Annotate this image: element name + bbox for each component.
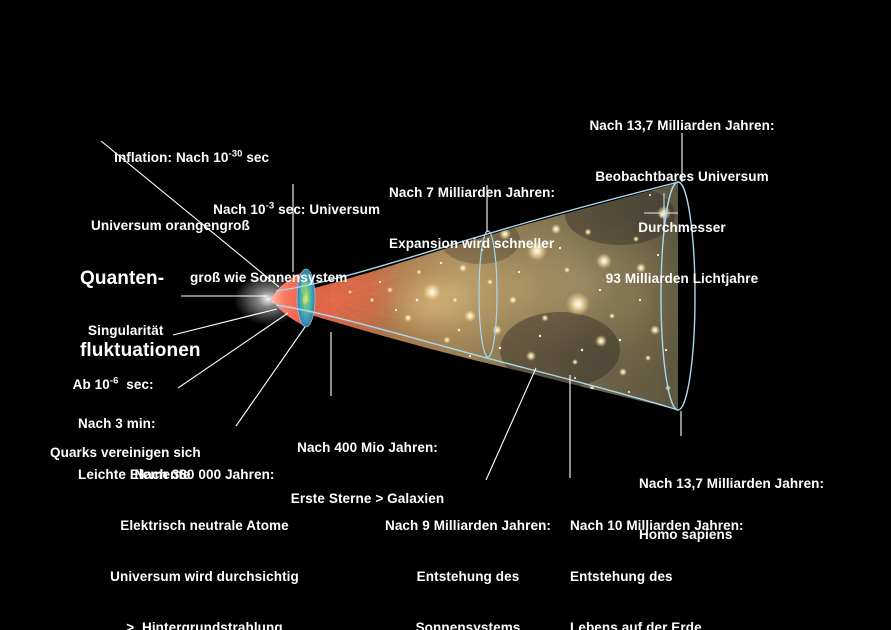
label-homo-sapiens-line2: Homo sapiens <box>639 526 824 543</box>
label-observable-line2: Beobachtbares Universum <box>563 168 801 185</box>
label-solar-system-line2: Entstehung des <box>375 568 561 585</box>
label-observable-line4: 93 Milliarden Lichtjahre <box>563 270 801 287</box>
label-observable-line1: Nach 13,7 Milliarden Jahren: <box>563 117 801 134</box>
label-homo-sapiens-line1: Nach 13,7 Milliarden Jahren: <box>639 475 824 492</box>
label-expansion7-line1: Nach 7 Milliarden Jahren: <box>389 184 555 201</box>
label-solar-system-line1: Nach 9 Milliarden Jahren: <box>375 517 561 534</box>
label-recombination-line4: > Hintergrundstrahlung <box>82 619 327 630</box>
label-observable-line3: Durchmesser <box>563 219 801 236</box>
label-light-elements-line1: Nach 3 min: <box>78 415 191 432</box>
leader-solar-system <box>486 368 536 480</box>
label-homo-sapiens: Nach 13,7 Milliarden Jahren: Homo sapien… <box>639 441 824 577</box>
label-milli-sec: Nach 10-3 sec: Universum groß wie Sonnen… <box>190 150 380 320</box>
label-life-on-earth-line3: Lebens auf der Erde <box>570 619 744 630</box>
label-milli-sec-line2: groß wie Sonnensystem <box>190 269 380 286</box>
label-expansion7-line2: Expansion wird schneller <box>389 235 555 252</box>
label-expansion7: Nach 7 Milliarden Jahren: Expansion wird… <box>389 150 555 286</box>
label-recombination-line3: Universum wird durchsichtig <box>82 568 327 585</box>
label-milli-sec-line1: Nach 10-3 sec: Universum <box>190 184 380 235</box>
label-observable-universe: Nach 13,7 Milliarden Jahren: Beobachtbar… <box>563 83 801 321</box>
label-first-stars-line1: Nach 400 Mio Jahren: <box>275 439 460 456</box>
universe-expansion-diagram: Inflation: Nach 10-30 sec Universum oran… <box>0 0 891 630</box>
label-solar-system: Nach 9 Milliarden Jahren: Entstehung des… <box>375 483 561 630</box>
label-solar-system-line3: Sonnensystems <box>375 619 561 630</box>
